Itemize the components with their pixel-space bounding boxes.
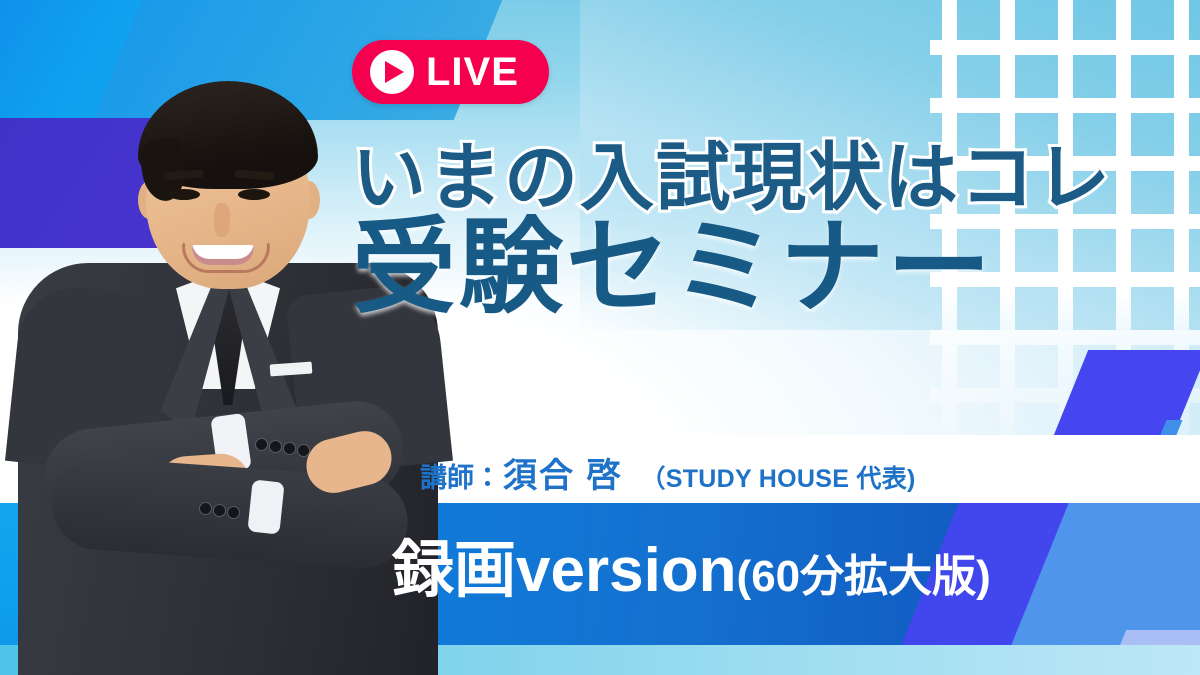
instructor-prefix: 講師： bbox=[420, 456, 501, 495]
instructor-line: 講師： 須合 啓 （STUDY HOUSE 代表) bbox=[420, 448, 916, 497]
recording-label: 録画version (60分拡大版) bbox=[392, 540, 991, 602]
seminar-banner: LIVE いまの入試現状はコレ 受験セミナー 講師： 須合 啓 （STUDY H… bbox=[0, 0, 1200, 675]
live-badge-label: LIVE bbox=[426, 52, 519, 92]
headline-line-1: いまの入試現状はコレ bbox=[352, 138, 1112, 218]
instructor-name: 須合 啓 bbox=[503, 448, 622, 497]
live-badge[interactable]: LIVE bbox=[352, 40, 549, 104]
recording-sub-text: (60分拡大版) bbox=[737, 555, 991, 599]
instructor-organization: （STUDY HOUSE 代表) bbox=[640, 459, 915, 495]
recording-main-text: 録画version bbox=[392, 540, 737, 602]
headline: いまの入試現状はコレ 受験セミナー bbox=[352, 138, 1112, 322]
play-circle-icon bbox=[370, 50, 414, 94]
headline-line-2: 受験セミナー bbox=[352, 214, 1112, 322]
